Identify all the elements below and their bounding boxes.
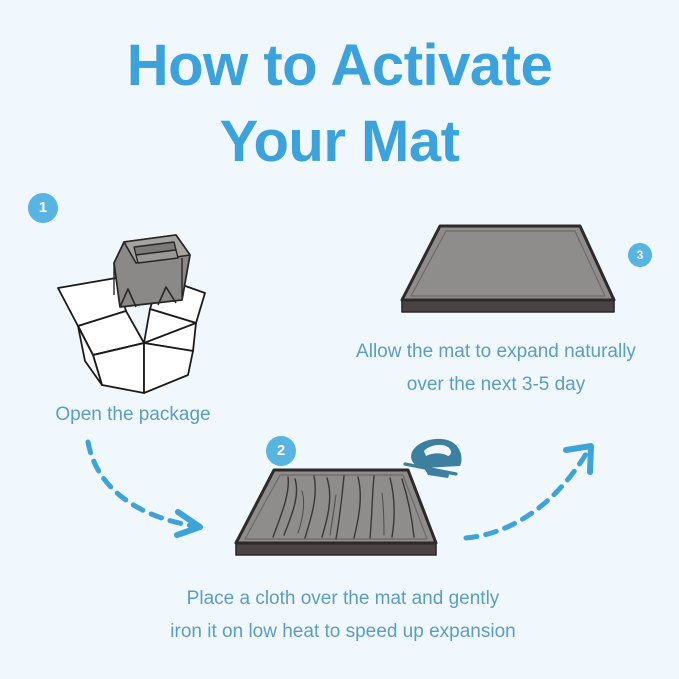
rolled-mat-icon bbox=[114, 235, 190, 307]
dashed-arrow-down-right-icon bbox=[82, 438, 222, 543]
step-3-caption-line-1: Allow the mat to expand naturally bbox=[320, 335, 672, 368]
iron-icon bbox=[398, 436, 468, 486]
step-1-badge: 1 bbox=[28, 193, 58, 223]
step-2-caption-line-2: iron it on low heat to speed up expansio… bbox=[92, 615, 594, 648]
step-2-badge: 2 bbox=[266, 436, 296, 466]
page-title: How to Activate Your Mat bbox=[0, 28, 679, 180]
step-2-caption-line-1: Place a cloth over the mat and gently bbox=[92, 582, 594, 615]
step-3-caption-line-2: over the next 3-5 day bbox=[320, 368, 672, 401]
infographic-root: How to Activate Your Mat 1 bbox=[0, 0, 679, 679]
step-2-caption: Place a cloth over the mat and gently ir… bbox=[92, 582, 594, 648]
flat-mat-icon bbox=[398, 220, 618, 325]
page-title-line-2: Your Mat bbox=[0, 104, 679, 180]
step-3-caption: Allow the mat to expand naturally over t… bbox=[320, 335, 672, 401]
step-1-caption: Open the package bbox=[0, 398, 266, 431]
step-1-caption-line-1: Open the package bbox=[0, 398, 266, 431]
step-3-badge: 3 bbox=[628, 243, 652, 267]
package-box-icon bbox=[50, 225, 230, 395]
dashed-arrow-up-right-icon bbox=[462, 440, 607, 545]
page-title-line-1: How to Activate bbox=[0, 28, 679, 104]
